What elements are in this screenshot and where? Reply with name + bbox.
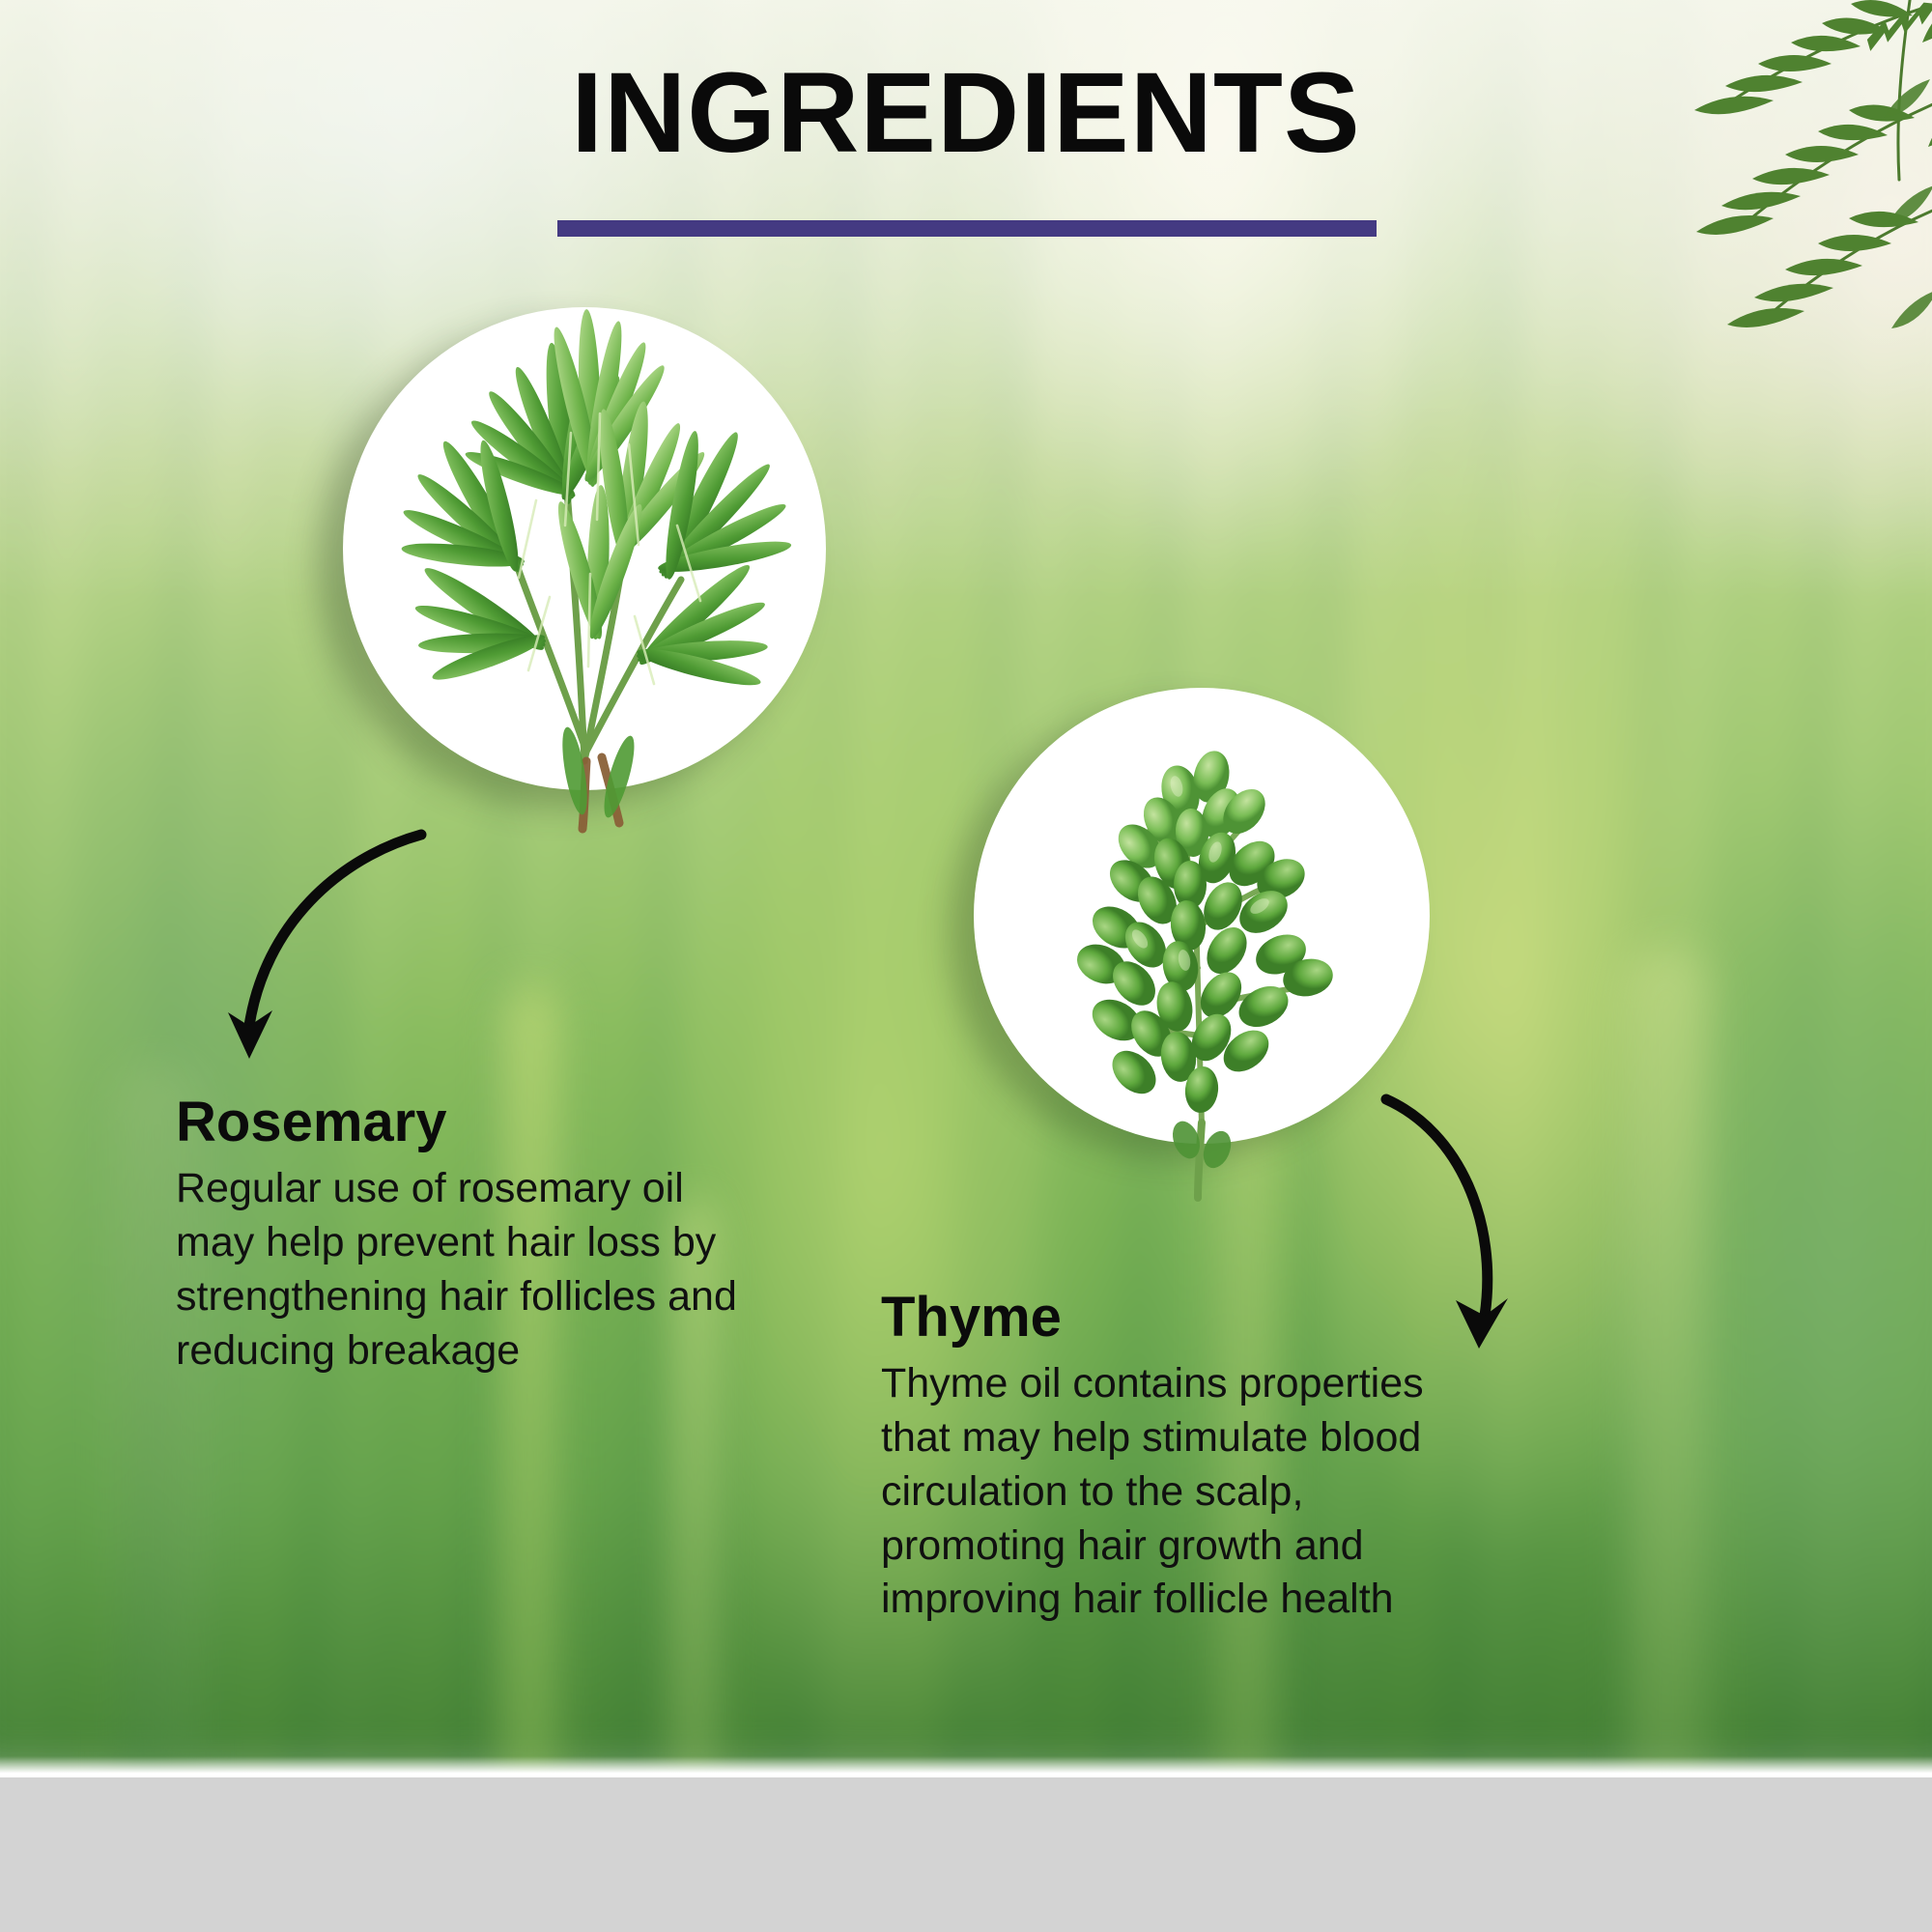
rosemary-image-badge[interactable]: [343, 307, 826, 790]
infographic-canvas: INGREDIENTS: [0, 0, 1932, 1932]
ingredient-card-rosemary: Rosemary Regular use of rosemary oil may…: [176, 1094, 755, 1378]
ingredient-card-thyme: Thyme Thyme oil contains properties that…: [881, 1289, 1499, 1627]
ingredient-name-rosemary: Rosemary: [176, 1094, 755, 1152]
thyme-image-badge[interactable]: [974, 688, 1430, 1144]
thyme-sprig-icon: [974, 688, 1430, 1144]
ingredient-name-thyme: Thyme: [881, 1289, 1499, 1348]
bottom-frame-bar: [0, 1777, 1932, 1932]
title-underline-rule: [557, 220, 1377, 237]
page-title: INGREDIENTS: [0, 56, 1932, 170]
rosemary-sprig-icon: [343, 307, 826, 790]
ingredient-description-thyme: Thyme oil contains properties that may h…: [881, 1357, 1499, 1627]
ingredient-description-rosemary: Regular use of rosemary oil may help pre…: [176, 1162, 755, 1378]
